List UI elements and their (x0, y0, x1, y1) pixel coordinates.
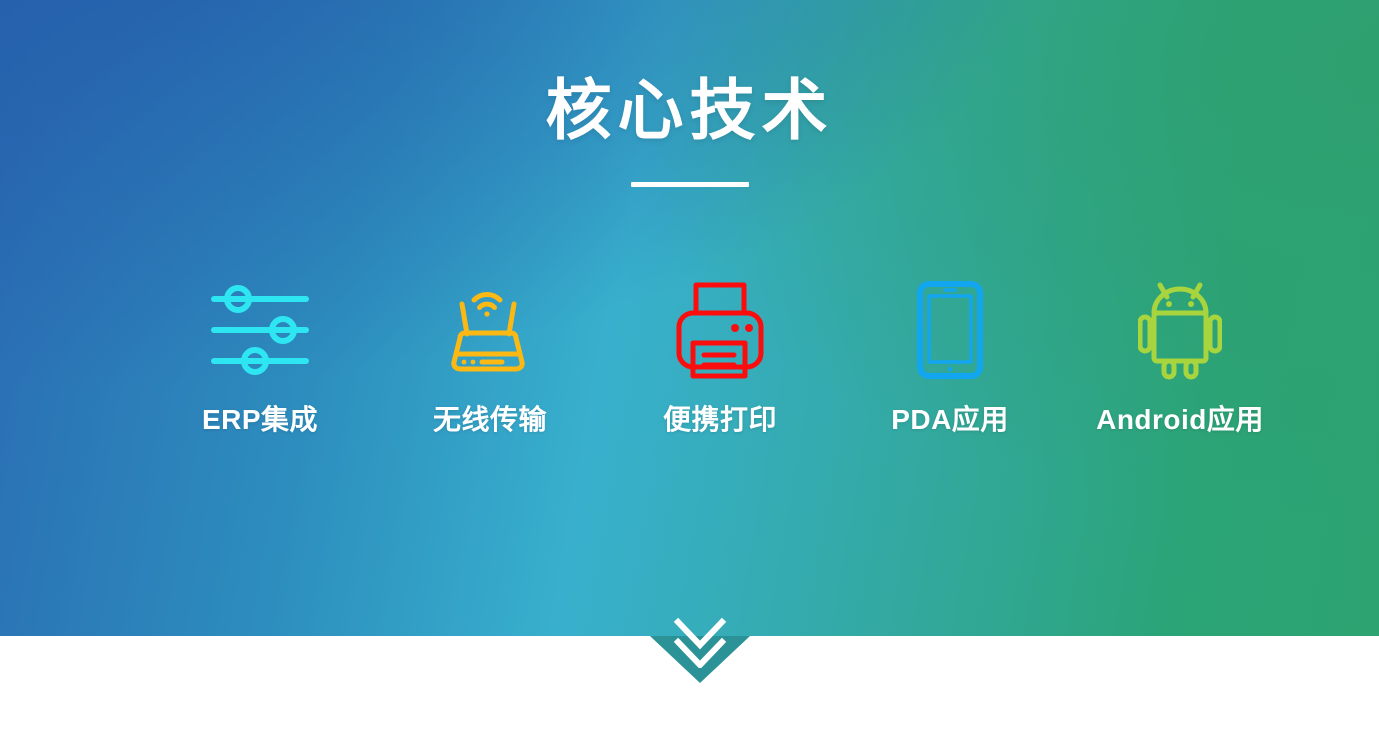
hero-banner: 核心技术 (0, 0, 1379, 636)
wireless-router-icon (440, 280, 540, 380)
feature-label: Android应用 (1096, 398, 1264, 438)
feature-icon-box (208, 276, 312, 384)
feature-item-android[interactable]: Android应用 (1080, 276, 1280, 438)
feature-item-pda[interactable]: PDA应用 (850, 276, 1050, 438)
tablet-device-icon (915, 280, 985, 380)
scroll-down-tab[interactable] (650, 636, 750, 683)
feature-item-wireless[interactable]: 无线传输 (390, 276, 590, 438)
feature-label: PDA应用 (891, 398, 1009, 438)
feature-icon-box (440, 276, 540, 384)
feature-label: ERP集成 (202, 398, 318, 438)
feature-list: ERP集成 (160, 276, 1280, 438)
feature-icon-box (915, 276, 985, 384)
title-underline-divider (631, 182, 749, 187)
page-title-wrap: 核心技术 (0, 76, 1379, 145)
feature-label: 便携打印 (663, 398, 777, 438)
sliders-icon (208, 282, 312, 378)
printer-icon (672, 279, 768, 381)
feature-item-printer[interactable]: 便携打印 (620, 276, 820, 438)
feature-icon-box (1138, 276, 1222, 384)
feature-item-erp[interactable]: ERP集成 (160, 276, 360, 438)
page-title: 核心技术 (546, 76, 834, 145)
feature-label: 无线传输 (433, 398, 547, 438)
feature-icon-box (672, 276, 768, 384)
page-root: 核心技术 (0, 0, 1379, 755)
android-robot-icon (1138, 280, 1222, 380)
